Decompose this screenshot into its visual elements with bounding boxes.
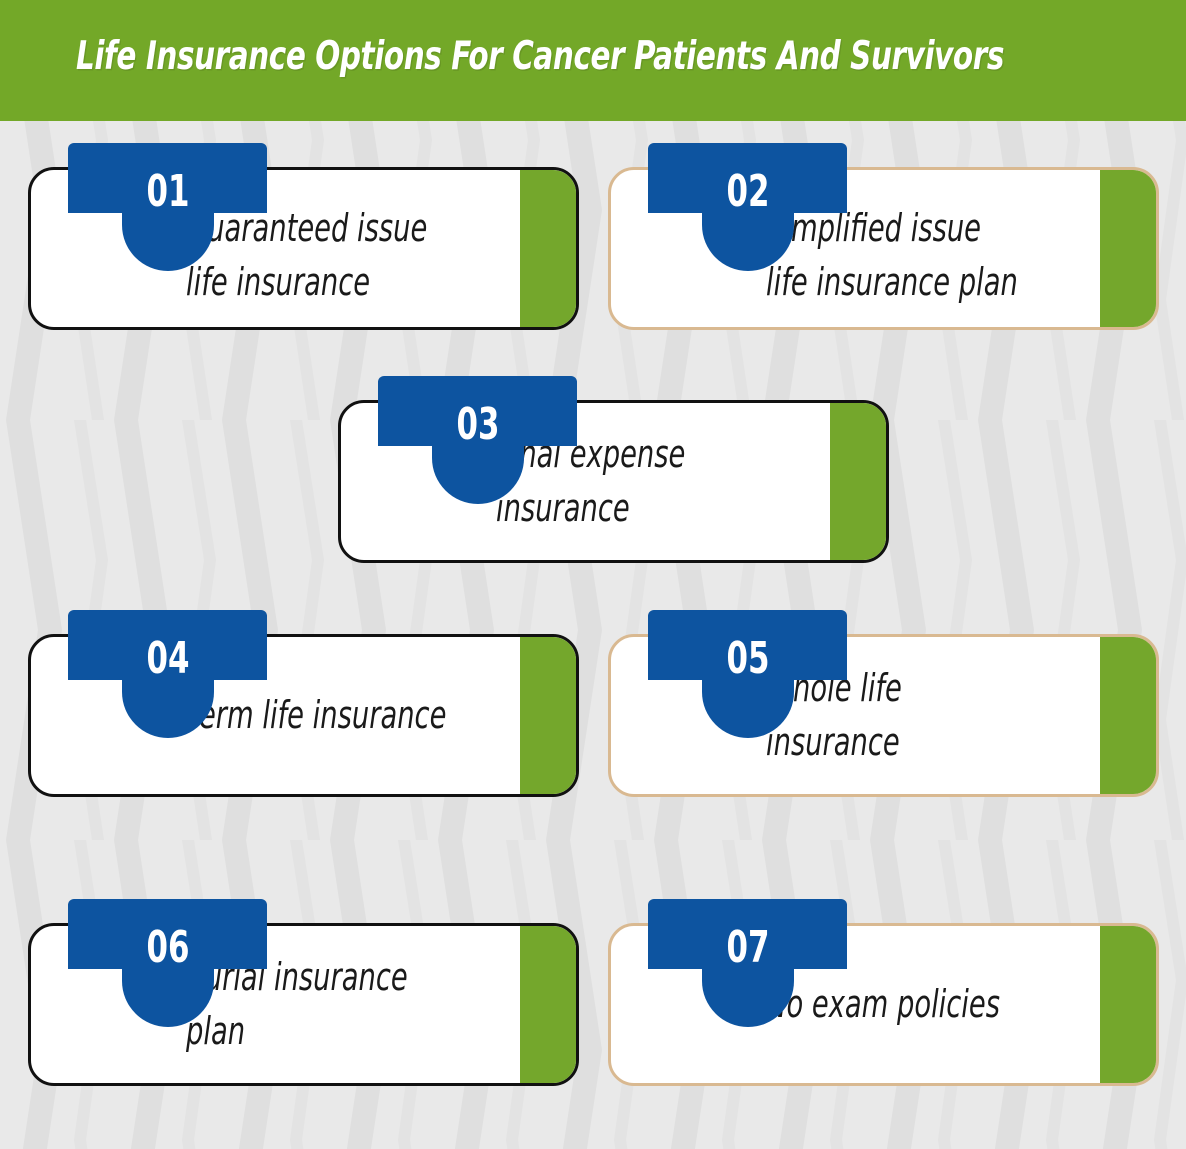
option-card-02[interactable]: Simplified issue life insurance plan 02: [608, 167, 1159, 330]
card-number-badge: 05: [648, 610, 847, 680]
page-title: Life Insurance Options For Cancer Patien…: [76, 34, 966, 79]
card-accent-block: [520, 926, 576, 1083]
card-accent-block: [520, 170, 576, 327]
card-label: Guaranteed issue life insurance: [186, 202, 448, 310]
card-number: 02: [712, 161, 784, 223]
infographic-canvas: Life Insurance Options For Cancer Patien…: [0, 0, 1186, 1149]
card-number-badge: 06: [68, 899, 267, 969]
card-label: No exam policies: [766, 978, 1028, 1032]
card-accent-block: [520, 637, 576, 794]
card-number: 03: [442, 394, 514, 456]
card-number-badge: 02: [648, 143, 847, 213]
card-number-badge: 01: [68, 143, 267, 213]
card-label: Simplified issue life insurance plan: [766, 202, 1028, 310]
card-accent-block: [830, 403, 886, 560]
card-number-badge: 07: [648, 899, 847, 969]
card-number: 01: [132, 161, 204, 223]
card-number: 07: [712, 917, 784, 979]
header-bar: Life Insurance Options For Cancer Patien…: [0, 0, 1186, 121]
card-accent-block: [1100, 637, 1156, 794]
card-number-badge: 03: [378, 376, 577, 446]
option-card-07[interactable]: No exam policies 07: [608, 923, 1159, 1086]
card-number: 05: [712, 628, 784, 690]
card-number: 04: [132, 628, 204, 690]
card-number: 06: [132, 917, 204, 979]
card-number-badge: 04: [68, 610, 267, 680]
option-card-06[interactable]: Burial insurance plan 06: [28, 923, 579, 1086]
option-card-05[interactable]: Whole life insurance 05: [608, 634, 1159, 797]
card-accent-block: [1100, 926, 1156, 1083]
option-card-04[interactable]: Term life insurance 04: [28, 634, 579, 797]
option-card-03[interactable]: Final expense insurance 03: [338, 400, 889, 563]
option-card-01[interactable]: Guaranteed issue life insurance 01: [28, 167, 579, 330]
card-accent-block: [1100, 170, 1156, 327]
card-label: Term life insurance: [186, 689, 448, 743]
